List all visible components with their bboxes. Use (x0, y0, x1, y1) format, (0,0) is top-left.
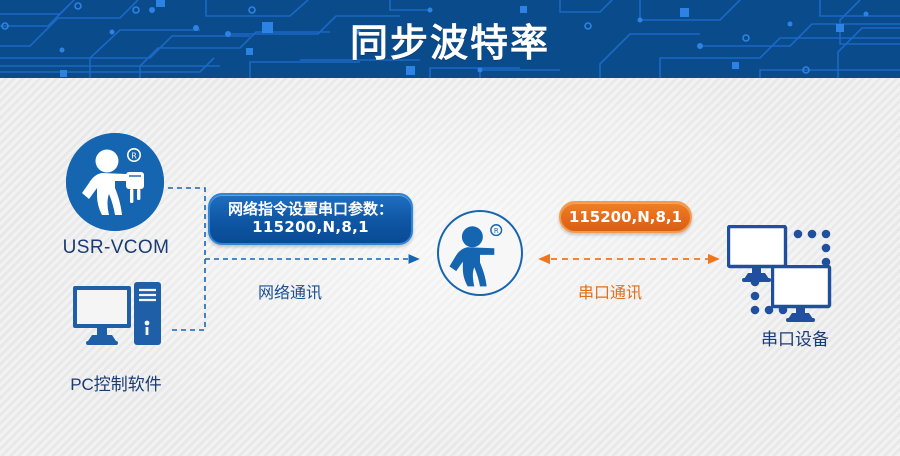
usr-person-icon: R (439, 212, 521, 294)
desktop-computer-icon (72, 282, 162, 358)
center-device-circle: R (437, 210, 523, 296)
page-title-wrap: 同步波特率 (0, 0, 900, 78)
svg-text:R: R (494, 227, 499, 235)
page-header: 同步波特率 (0, 0, 900, 78)
serial-devices-label: 串口设备 (690, 325, 900, 350)
usr-vcom-label: USR-VCOM (0, 237, 232, 259)
diagram-canvas: 同步波特率 (0, 0, 900, 456)
network-command-line1: 网络指令设置串口参数： (228, 201, 393, 219)
svg-text:R: R (131, 151, 137, 160)
page-title: 同步波特率 (350, 12, 550, 67)
serial-params-text: 115200,N,8,1 (569, 208, 682, 226)
pc-software-icon (72, 282, 162, 358)
usr-vcom-logo: R (66, 133, 164, 231)
network-flow-label: 网络通讯 (258, 279, 322, 303)
pc-software-label: PC控制软件 (0, 370, 232, 395)
serial-params-callout: 115200,N,8,1 (559, 201, 692, 233)
network-command-line2: 115200,N,8,1 (252, 219, 369, 237)
serial-flow-label: 串口通讯 (578, 279, 642, 303)
logo-circle: R (66, 133, 164, 231)
network-command-callout: 网络指令设置串口参数： 115200,N,8,1 (208, 193, 413, 245)
usr-person-plug-icon: R (66, 133, 164, 231)
center-device-node: R (437, 210, 523, 296)
